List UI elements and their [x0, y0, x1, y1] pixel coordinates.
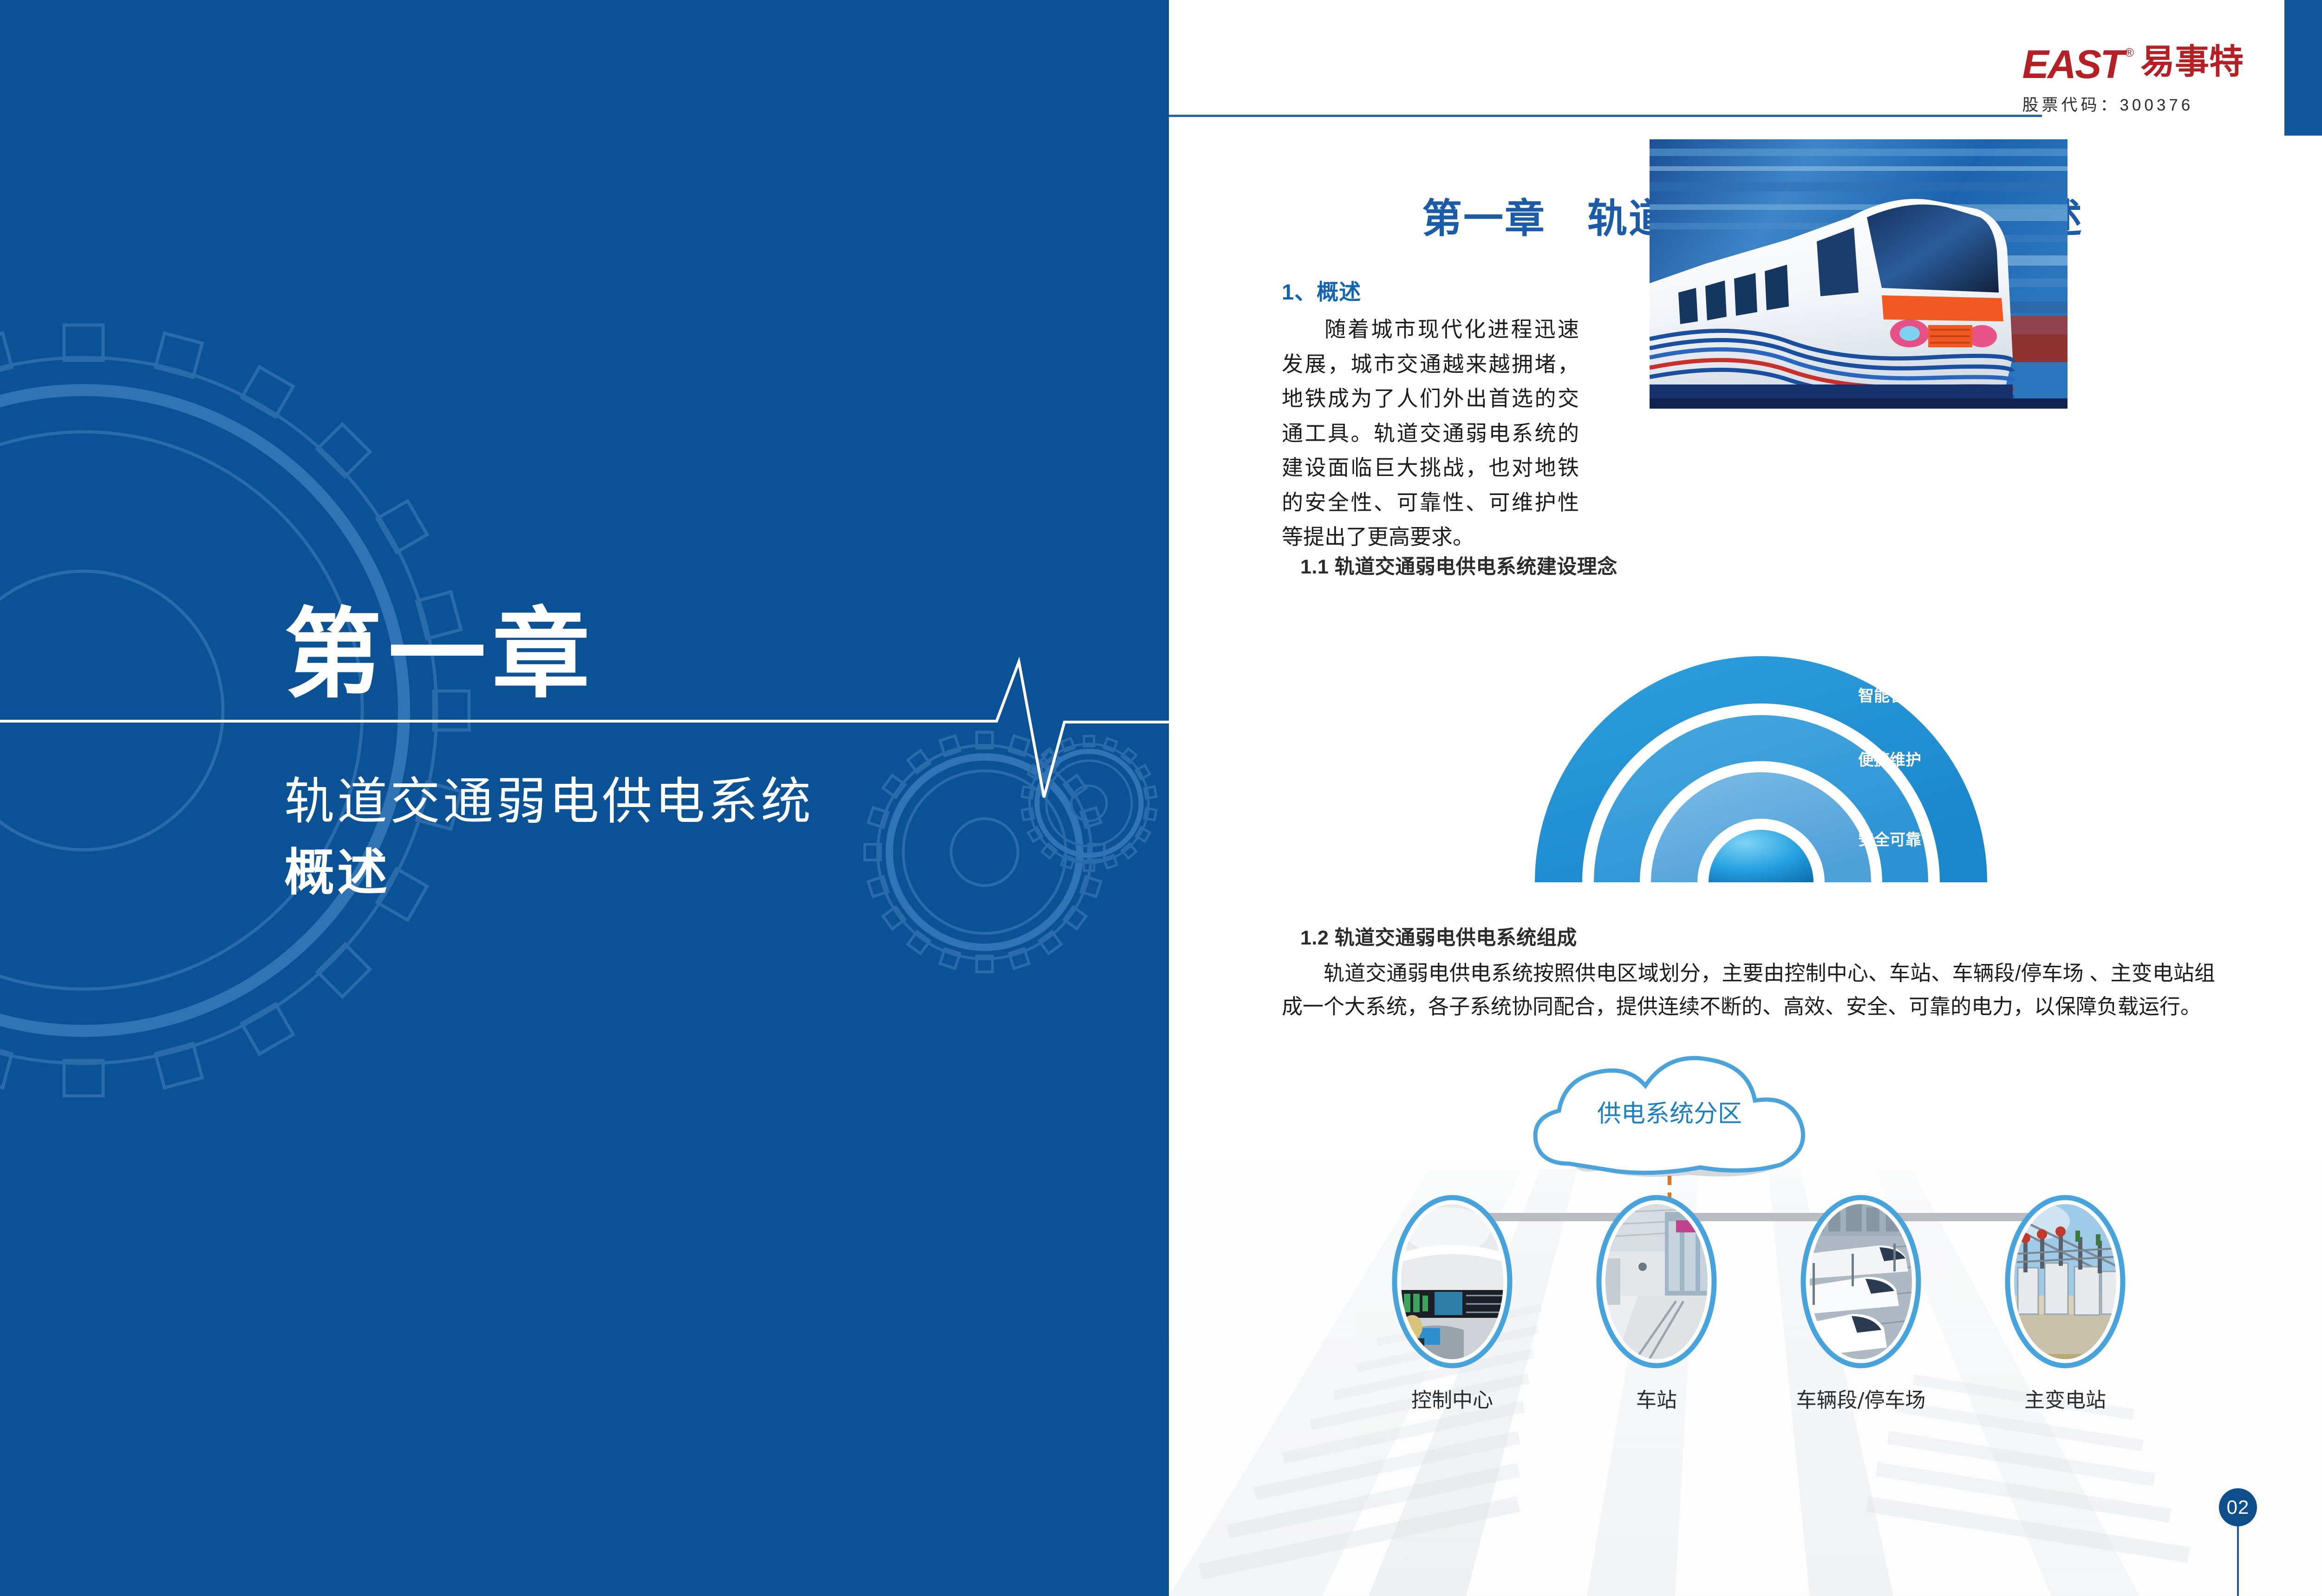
- distribution-diagram: 供电系统分区: [1169, 1036, 2322, 1477]
- arch-label-2: 便捷维护: [1858, 751, 1921, 769]
- corner-accent-block: [2284, 0, 2322, 136]
- logo-chinese-name: 易事特: [2140, 45, 2244, 79]
- node-label-0: 控制中心: [1411, 1388, 1493, 1412]
- cover-subtitle-line2: 概述: [284, 837, 1074, 908]
- node-substation: [2005, 1198, 2123, 1366]
- node-control-center: [1395, 1198, 1510, 1366]
- cover-title-block: 第一章 轨道交通弱电供电系统 概述: [284, 604, 1074, 908]
- section-1-heading: 1、概述: [1282, 274, 1361, 306]
- arch-concept-diagram: 绿色环保 智能管理 便捷维护 安全可靠: [1471, 585, 2051, 892]
- cloud-label: 供电系统分区: [1597, 1100, 1742, 1128]
- section-1-1-heading: 1.1 轨道交通弱电供电系统建设理念: [1300, 551, 1618, 580]
- cover-subtitle: 轨道交通弱电供电系统 概述: [284, 766, 1074, 908]
- page-number-stem: [2237, 1519, 2239, 1596]
- section-1-body: 随着城市现代化进程迅速发展，城市交通越来越拥堵，地铁成为了人们外出首选的交通工具…: [1282, 312, 1579, 554]
- bus-bar: [1423, 1213, 2093, 1221]
- registered-mark-icon: ®: [2125, 46, 2134, 60]
- section-1-2-heading: 1.2 轨道交通弱电供电系统组成: [1300, 922, 1577, 951]
- cover-chapter-number: 第一章: [284, 604, 1074, 706]
- header-divider-rule: [1169, 115, 2042, 117]
- arch-core: [1709, 830, 1813, 882]
- stock-code-label: 股票代码：300376: [2022, 92, 2244, 116]
- chapter-cover-page: 第一章 轨道交通弱电供电系统 概述: [0, 0, 1169, 1596]
- section-1-2-body: 轨道交通弱电供电系统按照供电区域划分，主要由控制中心、车站、车辆段/停车场 、主…: [1282, 957, 2215, 1023]
- node-station: [1599, 1198, 1714, 1366]
- node-depot: [1803, 1198, 1918, 1366]
- page-number-badge: 02: [2219, 1488, 2257, 1526]
- arch-label-3: 安全可靠: [1858, 831, 1921, 849]
- cover-subtitle-line1: 轨道交通弱电供电系统: [284, 766, 1074, 837]
- node-label-2: 车辆段/停车场: [1796, 1388, 1926, 1412]
- brand-logo: EAST ® 易事特 股票代码：300376: [2022, 45, 2244, 116]
- document-spread: 第一章 轨道交通弱电供电系统 概述 EAST ® 易事特 股票代码：300376…: [0, 0, 2322, 1596]
- node-label-3: 主变电站: [2024, 1388, 2106, 1412]
- train-photo: [1650, 139, 2068, 409]
- logo-wordmark: EAST: [2022, 45, 2123, 85]
- node-label-1: 车站: [1636, 1388, 1677, 1412]
- content-page: EAST ® 易事特 股票代码：300376 第一章 轨道交通弱电供电系统概述 …: [1169, 0, 2322, 1596]
- arch-label-0: 绿色环保: [1858, 627, 1922, 646]
- arch-label-1: 智能管理: [1858, 687, 1921, 705]
